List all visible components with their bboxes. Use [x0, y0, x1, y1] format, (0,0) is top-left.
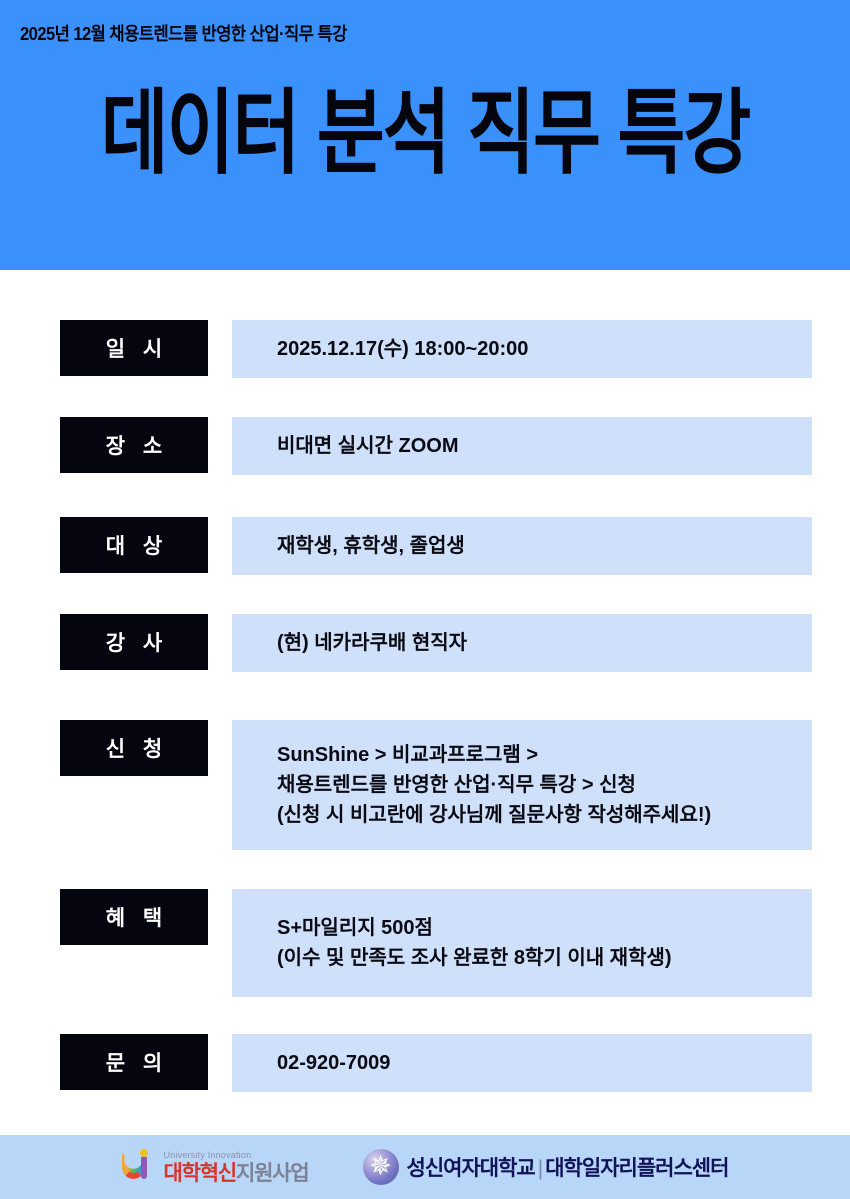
- info-row-value-line: S+마일리지 500점: [277, 913, 812, 943]
- info-row-label: 신 청: [60, 720, 208, 776]
- info-row-value-line: 채용트렌드를 반영한 산업·직무 특강 > 신청: [277, 770, 812, 800]
- logo-english-label: University Innovation: [164, 1151, 309, 1160]
- info-row-label: 대 상: [60, 517, 208, 573]
- info-row-label: 문 의: [60, 1034, 208, 1090]
- info-row-value: 비대면 실시간 ZOOM: [232, 417, 812, 475]
- j-dot-shape: [140, 1149, 148, 1157]
- info-row-value-line: 02-920-7009: [277, 1048, 812, 1078]
- sungshin-university-label: 성신여자대학교: [407, 1157, 535, 1180]
- sungshin-center-label: 대학일자리플러스센터: [545, 1157, 728, 1180]
- sungshin-emblem-icon: ✵: [363, 1149, 399, 1185]
- sungshin-separator: |: [535, 1157, 545, 1180]
- university-innovation-mark-icon: [122, 1149, 156, 1185]
- info-row-value-line: 2025.12.17(수) 18:00~20:00: [277, 334, 812, 364]
- info-row-label: 강 사: [60, 614, 208, 670]
- sungshin-wordmark: 성신여자대학교|대학일자리플러스센터: [407, 1152, 729, 1182]
- info-row-value-line: SunShine > 비교과프로그램 >: [277, 740, 812, 770]
- logo-korean-label: 대학혁신지원사업: [164, 1163, 309, 1184]
- poster-root: 2025년 12월 채용트렌드를 반영한 산업·직무 특강 데이터 분석 직무 …: [0, 0, 850, 1199]
- info-row-value-line: (현) 네카라쿠배 현직자: [277, 628, 812, 658]
- info-row-value: 재학생, 휴학생, 졸업생: [232, 517, 812, 575]
- info-row-value: (현) 네카라쿠배 현직자: [232, 614, 812, 672]
- info-row-label: 혜 택: [60, 889, 208, 945]
- logo-korean-secondary: 지원사업: [236, 1162, 308, 1185]
- poster-footer: University Innovation 대학혁신지원사업 ✵ 성신여자대학교…: [0, 1135, 850, 1199]
- header-kicker-text: 2025년 12월 채용트렌드를 반영한 산업·직무 특강: [20, 20, 347, 46]
- info-row-value: 02-920-7009: [232, 1034, 812, 1092]
- info-row-value: SunShine > 비교과프로그램 >채용트렌드를 반영한 산업·직무 특강 …: [232, 720, 812, 850]
- info-row-value-line: 재학생, 휴학생, 졸업생: [277, 531, 812, 561]
- logo-university-innovation: University Innovation 대학혁신지원사업: [122, 1149, 309, 1185]
- info-row-value-line: 비대면 실시간 ZOOM: [277, 431, 812, 461]
- poster-header: 2025년 12월 채용트렌드를 반영한 산업·직무 특강 데이터 분석 직무 …: [0, 0, 850, 270]
- info-row-label: 일 시: [60, 320, 208, 376]
- info-row-label: 장 소: [60, 417, 208, 473]
- page-title: 데이터 분석 직무 특강: [13, 88, 838, 181]
- logo-sungshin: ✵ 성신여자대학교|대학일자리플러스센터: [363, 1149, 729, 1185]
- info-row-value-line: (신청 시 비고란에 강사님께 질문사항 작성해주세요!): [277, 800, 812, 830]
- info-row-value-line: (이수 및 만족도 조사 완료한 8학기 이내 재학생): [277, 943, 812, 973]
- info-row-value: 2025.12.17(수) 18:00~20:00: [232, 320, 812, 378]
- university-innovation-wordmark: University Innovation 대학혁신지원사업: [164, 1151, 309, 1184]
- logo-korean-primary: 대학혁신: [164, 1162, 236, 1185]
- info-row-value: S+마일리지 500점(이수 및 만족도 조사 완료한 8학기 이내 재학생): [232, 889, 812, 997]
- j-stem-shape: [141, 1157, 147, 1179]
